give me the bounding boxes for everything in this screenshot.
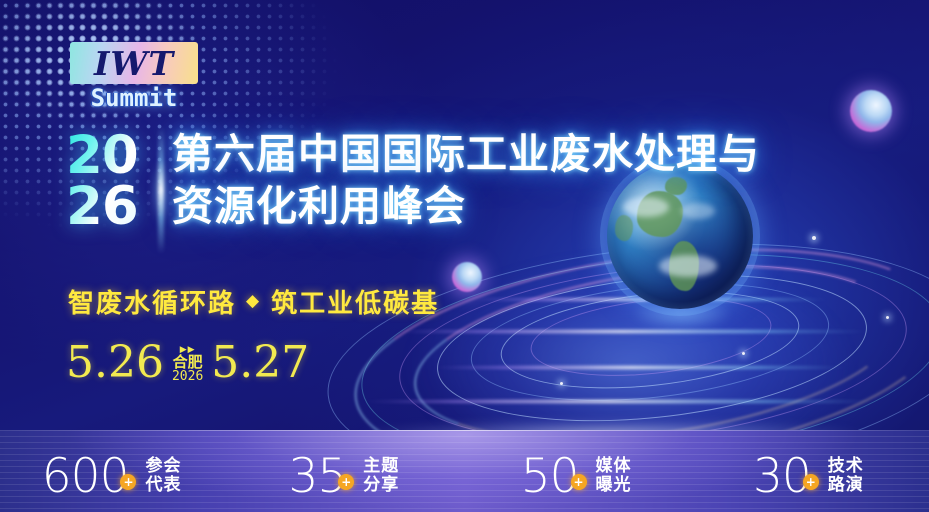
event-start-date: 5.26 <box>66 341 164 385</box>
light-spark <box>560 382 563 385</box>
plus-badge-icon: + <box>338 474 354 490</box>
vortex-ring <box>430 256 874 440</box>
diamond-separator-icon: ◆ <box>246 291 261 311</box>
event-promo-banner: IWT Summit 20 26 第六届中国国际工业废水处理与 资源化利用峰会 … <box>0 0 929 512</box>
logo-subtitle-text: Summit <box>70 86 198 110</box>
title-line-2: 资源化利用峰会 <box>172 180 842 232</box>
light-spark <box>812 236 816 240</box>
plus-badge-icon: + <box>571 474 587 490</box>
event-year-top: 20 <box>66 130 138 181</box>
vertical-light-divider <box>158 126 164 254</box>
stat-label-line-1: 媒体 <box>596 457 632 476</box>
stat-label-line-2: 分享 <box>363 476 399 495</box>
plus-badge-icon: + <box>120 474 136 490</box>
stat-item-roadshows: 30 + 技术 路演 <box>697 453 929 500</box>
vortex-ring <box>465 267 835 416</box>
glowing-orb-small <box>452 262 482 292</box>
stats-bar: 600 + 参会 代表 35 + 主题 分享 50 + 媒体 曝光 30 + <box>0 430 929 512</box>
event-city: 合肥 <box>172 355 203 371</box>
stat-label: 媒体 曝光 <box>596 457 632 495</box>
stat-label-line-1: 技术 <box>828 457 864 476</box>
stat-label: 参会 代表 <box>145 457 181 495</box>
event-end-date: 5.27 <box>211 341 309 385</box>
title-line-1: 第六届中国国际工业废水处理与 <box>172 128 842 180</box>
stat-item-topics: 35 + 主题 分享 <box>232 453 464 500</box>
stat-number: 35 <box>288 453 346 500</box>
stat-label-line-2: 代表 <box>145 476 181 495</box>
stat-label: 主题 分享 <box>363 457 399 495</box>
stat-label-line-2: 路演 <box>828 476 864 495</box>
globe-reflection <box>612 300 752 346</box>
vortex-ring <box>527 288 775 387</box>
cloud-layer <box>659 255 717 277</box>
page-title: 第六届中国国际工业废水处理与 资源化利用峰会 <box>172 128 842 233</box>
event-city-block: ▶▶ 合肥 2026 <box>172 346 203 384</box>
stat-item-media: 50 + 媒体 曝光 <box>465 453 697 500</box>
event-year: 20 26 <box>66 130 138 233</box>
light-spark <box>886 316 889 319</box>
stat-label-line-2: 曝光 <box>596 476 632 495</box>
logo-badge: IWT <box>70 42 198 84</box>
stat-number: 600 <box>42 453 129 500</box>
stat-number: 30 <box>753 453 811 500</box>
light-streak <box>470 298 830 301</box>
plus-badge-icon: + <box>803 474 819 490</box>
stat-label-line-1: 主题 <box>363 457 399 476</box>
event-slogan: 智废水循环路 ◆ 筑工业低碳基 <box>68 283 439 320</box>
event-year-bottom: 26 <box>66 181 138 232</box>
light-streak <box>392 330 872 333</box>
light-spark <box>742 352 745 355</box>
stat-number: 50 <box>521 453 579 500</box>
stat-label: 技术 路演 <box>828 457 864 495</box>
event-date-location: 5.26 ▶▶ 合肥 2026 5.27 <box>66 341 309 385</box>
stat-item-delegates: 600 + 参会 代表 <box>0 453 232 500</box>
slogan-left: 智废水循环路 <box>68 283 236 320</box>
stat-label-line-1: 参会 <box>145 457 181 476</box>
light-streak <box>430 366 850 369</box>
landmass-south-america <box>669 241 699 291</box>
vortex-ring <box>496 279 804 402</box>
light-streak <box>360 400 880 403</box>
slogan-right: 筑工业低碳基 <box>271 283 439 320</box>
logo-mark-text: IWT <box>94 47 174 80</box>
event-date-year: 2026 <box>172 370 203 384</box>
glowing-orb-large <box>850 90 892 132</box>
iwt-summit-logo: IWT Summit <box>70 42 198 110</box>
